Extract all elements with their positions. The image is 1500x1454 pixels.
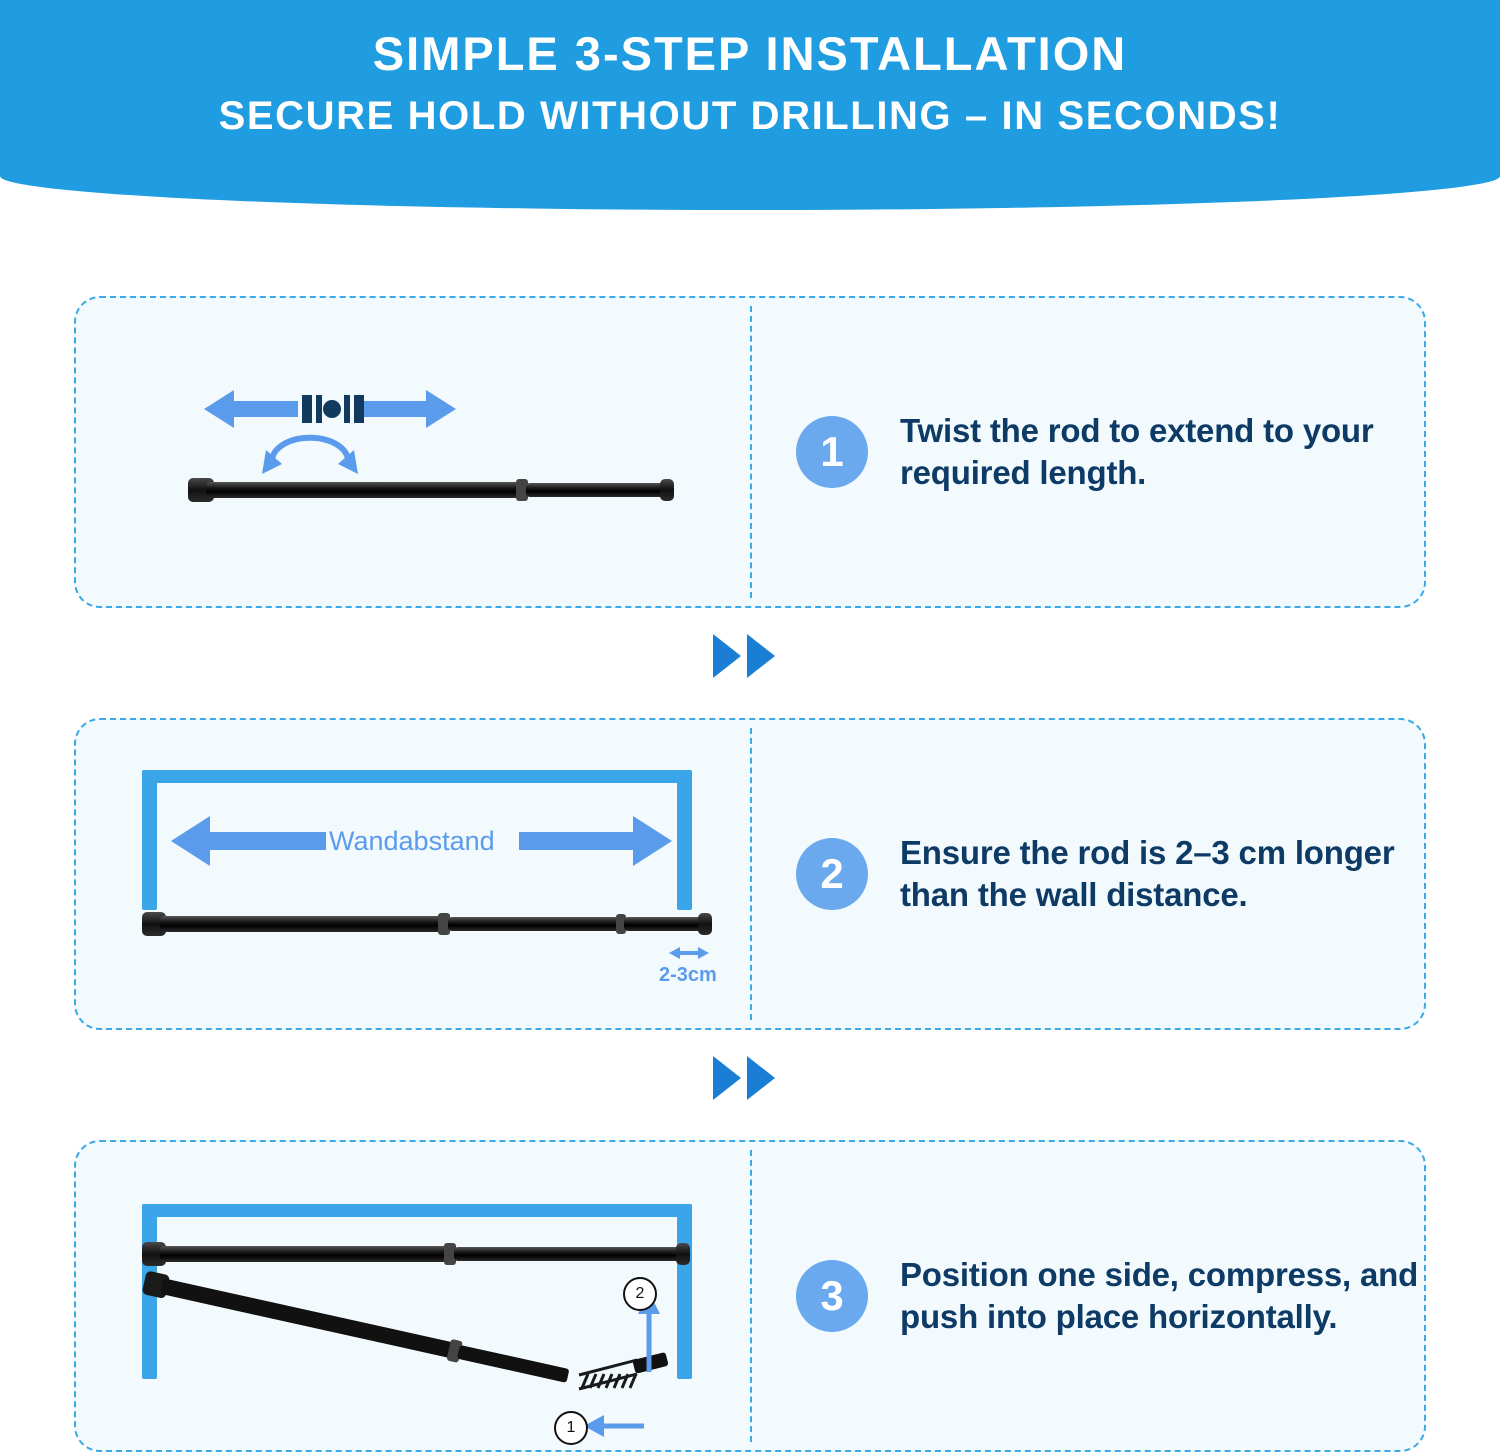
chevron-separator-1 [0, 628, 1500, 688]
rod-end-cap-right [698, 913, 712, 935]
step-instruction-2: Ensure the rod is 2–3 cm longer than the… [900, 832, 1424, 915]
marker-1: 1 [554, 1411, 588, 1445]
marker-2: 2 [623, 1277, 657, 1311]
rod-end-cap-right [660, 479, 674, 501]
step-3-text-side: 3 Position one side, compress, and push … [766, 1142, 1424, 1450]
header-title: SIMPLE 3-STEP INSTALLATION [0, 26, 1500, 81]
rod-segment-tip [624, 917, 704, 931]
wall-distance-arrow-svg [76, 720, 750, 1032]
header-text-block: SIMPLE 3-STEP INSTALLATION SECURE HOLD W… [0, 26, 1500, 141]
card-divider [750, 728, 752, 1020]
rod-segment-right [526, 483, 666, 497]
illustration-rod-wall-distance: Wandabstand 2-3cm [76, 720, 750, 1028]
step-number-badge-2: 2 [796, 838, 868, 910]
double-chevron-right-icon [711, 628, 789, 684]
illustration-rod-twist-extend [76, 298, 750, 606]
step-card-3: 2 1 3 Position one side, compress, and p… [74, 1140, 1426, 1452]
chevron-separator-2 [0, 1050, 1500, 1110]
step-number-badge-1: 1 [796, 416, 868, 488]
illustration-rod-compress-push: 2 1 [76, 1142, 750, 1450]
step-instruction-3: Position one side, compress, and push in… [900, 1254, 1424, 1337]
step-card-1: 1 Twist the rod to extend to your requir… [74, 296, 1426, 608]
label-wall-distance: Wandabstand [329, 826, 495, 857]
step-2-text-side: 2 Ensure the rod is 2–3 cm longer than t… [766, 720, 1424, 1028]
card-divider [750, 1150, 752, 1442]
step-card-2: Wandabstand 2-3cm 2 Ensure the rod is 2–… [74, 718, 1426, 1030]
rod-segment-left [206, 482, 522, 498]
rod-segment-right [448, 917, 620, 931]
header-banner: SIMPLE 3-STEP INSTALLATION SECURE HOLD W… [0, 0, 1500, 210]
header-subtitle: SECURE HOLD WITHOUT DRILLING – IN SECOND… [0, 93, 1500, 140]
step-instruction-1: Twist the rod to extend to your required… [900, 410, 1424, 493]
label-overhang: 2-3cm [659, 964, 717, 987]
step-number-badge-3: 3 [796, 1260, 868, 1332]
double-chevron-right-icon [711, 1050, 789, 1106]
card-divider [750, 306, 752, 598]
rod-extend-diagram-svg [76, 298, 750, 610]
rod-segment-left [160, 916, 444, 932]
step-1-text-side: 1 Twist the rod to extend to your requir… [766, 298, 1424, 606]
